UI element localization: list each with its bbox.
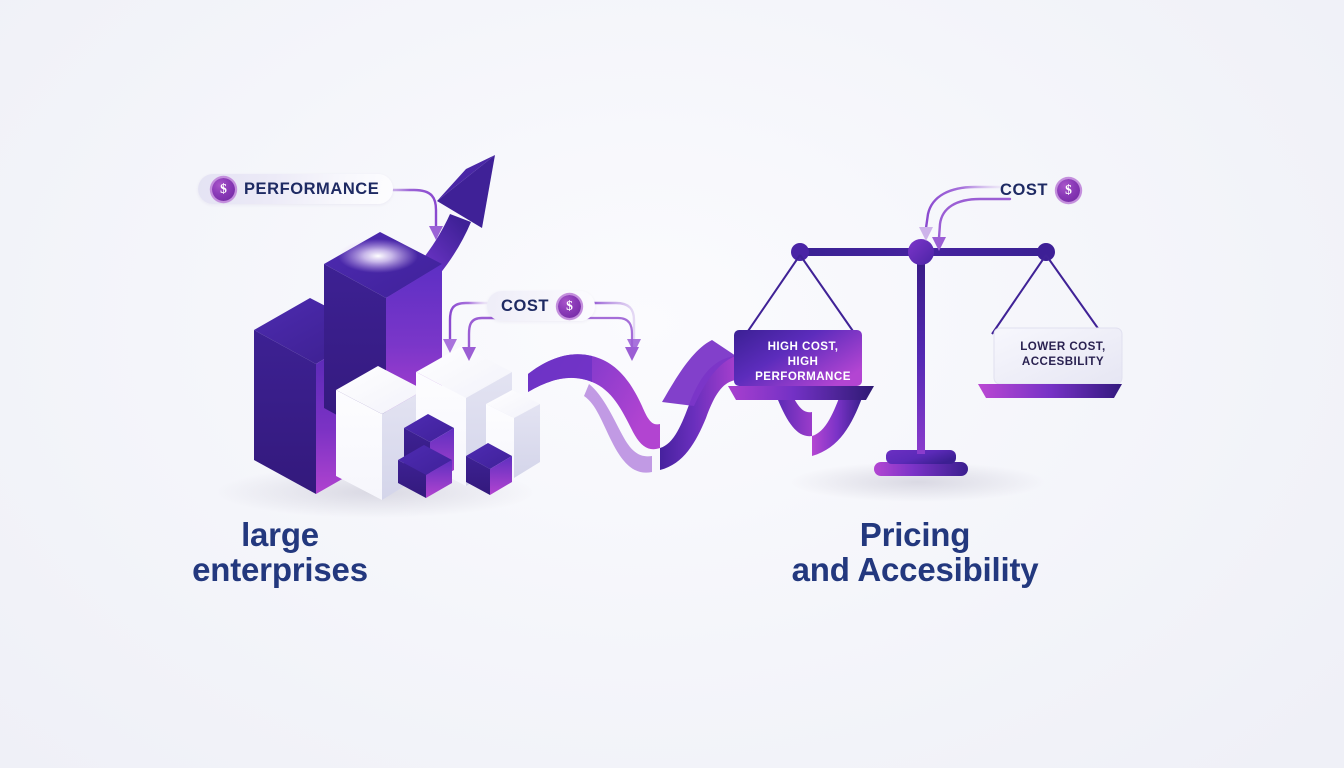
dollar-glyph: $ [566, 299, 573, 313]
left-heading-line2: enterprises [155, 553, 405, 588]
cost-arrow-left-inner [462, 318, 498, 361]
dollar-glyph: $ [220, 182, 227, 196]
infographic-canvas: $ PERFORMANCE COST $ COST $ HIGH COST, H… [0, 0, 1344, 768]
right-heading: Pricing and Accesibility [770, 518, 1060, 588]
dollar-coin-icon: $ [558, 295, 581, 318]
scale-left-pan-card [734, 330, 862, 386]
cost-arrow-right-inner [498, 318, 639, 361]
cost-label-pill-right[interactable]: COST $ [1000, 175, 1080, 205]
scale-right-pan-card [994, 328, 1122, 384]
left-heading: large enterprises [155, 518, 405, 588]
right-heading-line1: Pricing [770, 518, 1060, 553]
dollar-coin-icon: $ [1057, 179, 1080, 202]
cost-arrow-left [443, 303, 487, 353]
cost-label-pill-middle[interactable]: COST $ [487, 291, 595, 321]
cost-middle-label-text: COST [501, 298, 549, 315]
scale-left-knob [791, 243, 809, 261]
scale-base-bottom [874, 462, 968, 476]
cost-right-arrow-a [919, 187, 1000, 241]
right-heading-line2: and Accesibility [770, 553, 1060, 588]
scale-right-strings [992, 255, 1102, 334]
scale-left-strings [746, 255, 855, 334]
dollar-coin-icon: $ [212, 178, 235, 201]
left-heading-line1: large [155, 518, 405, 553]
cost-right-arrow-b [932, 199, 1010, 251]
cost-right-label-text: COST [1000, 182, 1048, 199]
balance-scale [728, 239, 1122, 476]
performance-label-text: PERFORMANCE [244, 181, 379, 198]
dollar-glyph: $ [1065, 183, 1072, 197]
scale-right-knob [1037, 243, 1055, 261]
scale-pivot [908, 239, 934, 265]
scale-post [917, 240, 925, 454]
scale-left-pan-tray [728, 386, 874, 400]
scale-right-pan-tray [978, 384, 1122, 398]
illustration-artboard [0, 0, 1344, 768]
performance-label-pill[interactable]: $ PERFORMANCE [198, 174, 393, 204]
